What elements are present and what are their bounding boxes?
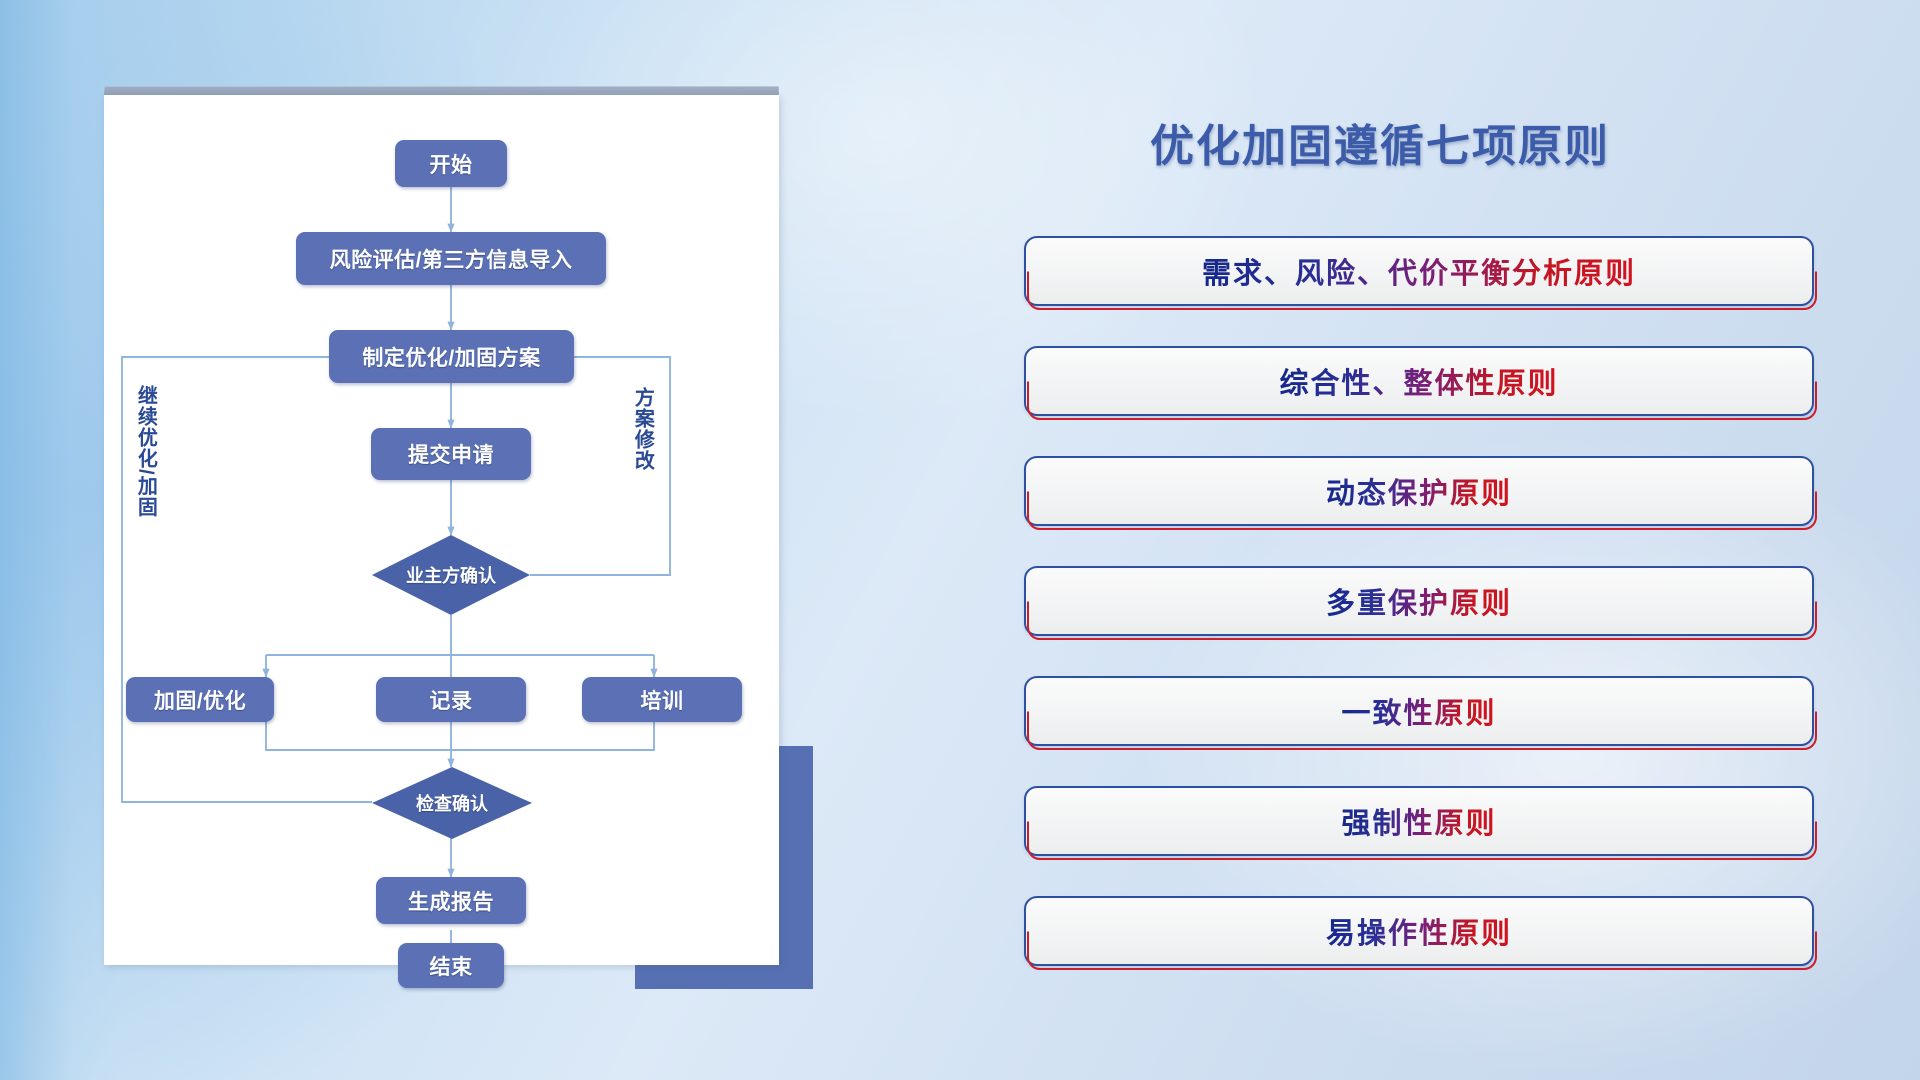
flow-edge-label-right-loop: 方案修改 (632, 387, 652, 471)
flow-decision-owner-confirm[interactable]: 业主方确认 (372, 535, 530, 615)
principle-item[interactable]: 一致性原则 (1024, 676, 1814, 746)
principle-label: 易操作性原则 (1326, 910, 1512, 952)
principle-label: 动态保护原则 (1326, 470, 1512, 512)
flow-node-record[interactable]: 记录 (376, 677, 526, 722)
flow-node-plan[interactable]: 制定优化/加固方案 (329, 330, 574, 383)
flow-node-submit-label: 提交申请 (408, 439, 494, 469)
flow-decision-check-confirm-label: 检查确认 (416, 790, 488, 816)
flow-node-reinforce-label: 加固/优化 (154, 685, 246, 715)
flow-edge-label-left-loop: 继续优化/加固 (135, 385, 155, 518)
flow-node-start[interactable]: 开始 (395, 140, 507, 187)
flow-node-report-label: 生成报告 (408, 886, 494, 916)
principle-item[interactable]: 多重保护原则 (1024, 566, 1814, 636)
flow-node-start-label: 开始 (430, 149, 473, 179)
flow-node-plan-label: 制定优化/加固方案 (362, 342, 540, 372)
principle-label: 需求、风险、代价平衡分析原则 (1202, 250, 1636, 292)
flow-node-risk-assessment[interactable]: 风险评估/第三方信息导入 (296, 232, 606, 285)
slide-root: 开始 风险评估/第三方信息导入 制定优化/加固方案 提交申请 业主方确认 加固/… (0, 0, 1920, 1080)
flow-node-risk-assessment-label: 风险评估/第三方信息导入 (330, 244, 573, 274)
principle-label: 综合性、整体性原则 (1279, 360, 1558, 402)
flow-node-end-label: 结束 (430, 951, 473, 981)
flow-node-end[interactable]: 结束 (398, 943, 504, 988)
panel-title: 优化加固遵循七项原则 (1150, 110, 1610, 174)
flowchart: 开始 风险评估/第三方信息导入 制定优化/加固方案 提交申请 业主方确认 加固/… (104, 95, 779, 965)
principles-list: 需求、风险、代价平衡分析原则 综合性、整体性原则 动态保护原则 多重保护原则 一… (1024, 236, 1814, 1006)
principle-label: 多重保护原则 (1326, 580, 1512, 622)
principle-label: 一致性原则 (1341, 690, 1496, 732)
principle-item[interactable]: 易操作性原则 (1024, 896, 1814, 966)
flow-node-training-label: 培训 (641, 685, 684, 715)
principle-item[interactable]: 需求、风险、代价平衡分析原则 (1024, 236, 1814, 306)
flow-node-training[interactable]: 培训 (582, 677, 742, 722)
flow-node-record-label: 记录 (430, 685, 473, 715)
principle-label: 强制性原则 (1341, 800, 1496, 842)
flow-node-submit[interactable]: 提交申请 (371, 428, 531, 480)
flow-decision-check-confirm[interactable]: 检查确认 (372, 767, 532, 839)
flow-node-reinforce[interactable]: 加固/优化 (126, 677, 274, 722)
principle-item[interactable]: 动态保护原则 (1024, 456, 1814, 526)
principle-item[interactable]: 强制性原则 (1024, 786, 1814, 856)
flow-decision-owner-confirm-label: 业主方确认 (406, 562, 496, 588)
flow-node-report[interactable]: 生成报告 (376, 877, 526, 924)
principle-item[interactable]: 综合性、整体性原则 (1024, 346, 1814, 416)
